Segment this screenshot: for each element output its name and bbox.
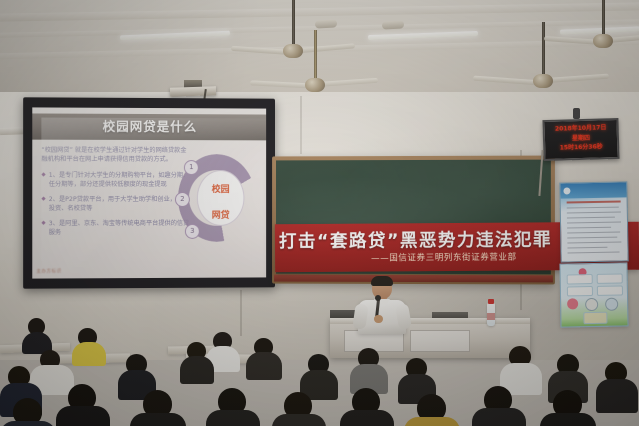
- slide-donut-graphic: 校园 网贷 1 2 3: [170, 148, 255, 248]
- bullet-marker-icon: ◆: [41, 219, 45, 237]
- student-shoulders: [180, 356, 214, 384]
- fan-motor: [533, 74, 553, 88]
- student-shoulders: [596, 379, 638, 413]
- donut-step-3: 3: [185, 224, 200, 239]
- fan-motor: [593, 34, 613, 48]
- audience-member: [540, 390, 594, 426]
- audience-member: [340, 388, 392, 426]
- student-shoulders: [130, 413, 186, 426]
- slide-title-text: 校园网贷是什么: [32, 113, 266, 140]
- student-shoulders: [72, 342, 106, 366]
- classroom-lecture-photo: 校园网贷是什么 “校园网贷” 就是在校学生通过针对学生的网络贷款金融机构和平台在…: [0, 0, 639, 426]
- audience-member: [404, 394, 458, 426]
- projection-screen-frame: 校园网贷是什么 “校园网贷” 就是在校学生通过针对学生的网络贷款金融机构和平台在…: [23, 97, 275, 288]
- poster-card: [567, 274, 593, 284]
- projector-body: [170, 86, 216, 97]
- student-shoulders: [340, 410, 394, 426]
- fan-motor: [305, 78, 325, 92]
- fan-rod: [314, 30, 317, 78]
- donut-step-1: 1: [184, 160, 199, 175]
- student-shoulders: [472, 408, 526, 426]
- student-shoulders: [56, 406, 110, 426]
- student-shoulders: [272, 414, 326, 426]
- audience-member: [56, 384, 108, 426]
- donut-center-line2: 网贷: [197, 196, 245, 222]
- presenter-glasses: [373, 285, 391, 290]
- audience-member: [206, 388, 258, 426]
- audience-member: [72, 328, 104, 364]
- led-time: 15时16分36秒: [545, 142, 617, 153]
- poster-card: [597, 285, 623, 295]
- audience-member: [130, 390, 184, 426]
- microphone-head: [375, 295, 381, 301]
- poster-card: [597, 273, 623, 283]
- audience-member: [180, 342, 212, 382]
- ceiling-fan: [560, 0, 639, 48]
- audience-member: [0, 398, 54, 426]
- poster-card: [567, 286, 593, 296]
- audience-member: [350, 348, 386, 392]
- student-shoulders: [246, 352, 282, 380]
- slide-title-bar: 校园网贷是什么: [32, 113, 266, 140]
- donut-center: 校园 网贷: [197, 170, 245, 226]
- poster-emblem-icon: [563, 187, 570, 194]
- student-shoulders: [206, 410, 260, 426]
- student-shoulders: [540, 413, 596, 426]
- audience-member: [472, 386, 524, 426]
- fan-rod: [602, 0, 605, 34]
- banner-sub-text: ——国信证券三明列东街证券营业部: [371, 251, 517, 264]
- poster-icon: [605, 298, 618, 311]
- donut-step-2: 2: [175, 192, 190, 207]
- audience-member: [596, 362, 636, 410]
- audience-member: [22, 318, 52, 352]
- bullet-marker-icon: ◆: [41, 195, 45, 213]
- led-panel-bracket: [573, 108, 580, 119]
- fan-rod: [542, 22, 545, 74]
- bullet-marker-icon: ◆: [41, 171, 45, 189]
- ceiling-projector: [170, 80, 216, 97]
- student-shoulders: [0, 421, 56, 426]
- audience-member: [246, 338, 280, 378]
- chalk-rail: [274, 275, 553, 283]
- slide-footer-logo: 主办方标识: [36, 268, 61, 274]
- audience-area: [0, 318, 639, 426]
- donut-center-line1: 校园: [197, 170, 245, 196]
- led-clock-panel: 2018年10月17日 星期四 15时16分36秒: [542, 118, 619, 161]
- student-shoulders: [404, 417, 460, 426]
- audience-member: [272, 392, 324, 426]
- poster-icon: [567, 298, 578, 309]
- slide-body: “校园网贷” 就是在校学生通过针对学生的网络贷款金融机构和平台在网上申请获得信用…: [41, 146, 257, 273]
- ceiling-fan: [270, 30, 360, 100]
- wall-poster-notice: [559, 181, 628, 262]
- bottle-cap: [488, 299, 494, 304]
- poster-title-rule: [567, 201, 621, 204]
- projection-screen: 校园网贷是什么 “校园网贷” 就是在校学生通过针对学生的网络贷款金融机构和平台在…: [32, 107, 266, 278]
- poster-icon: [585, 298, 598, 311]
